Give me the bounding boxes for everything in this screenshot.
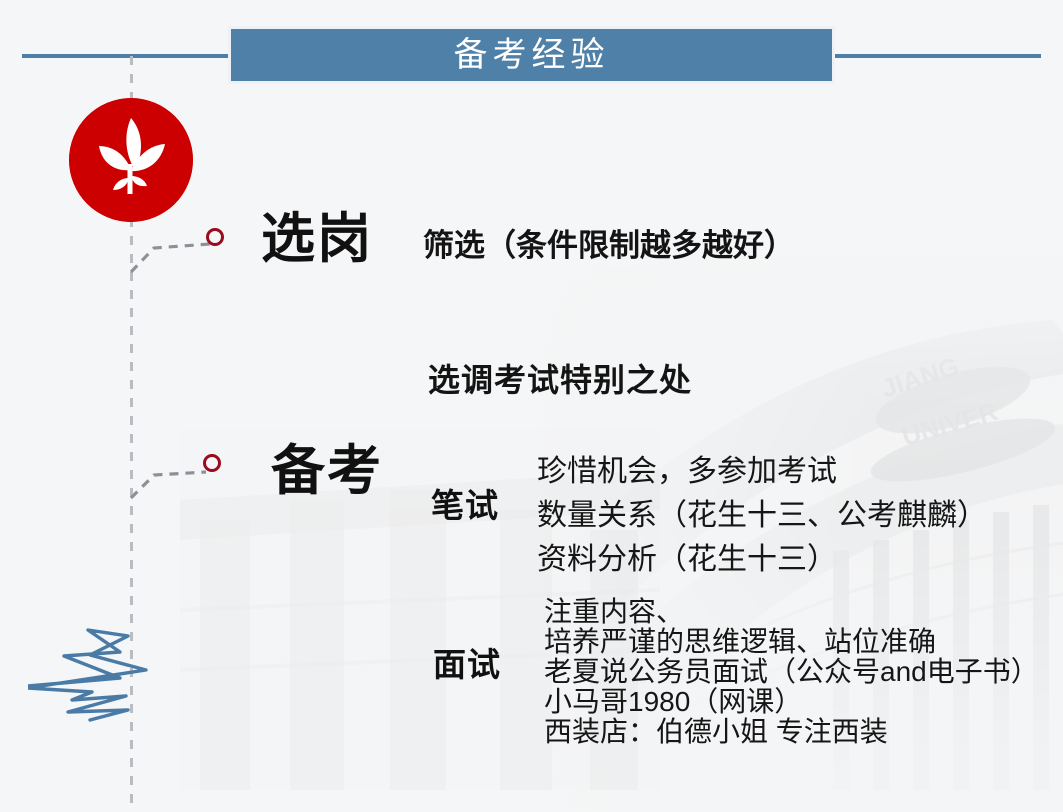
detail-row: 珍惜机会，多参加考试 — [537, 450, 987, 494]
plant-leaf-emblem-icon — [69, 98, 193, 222]
title-banner: 备考经验 — [231, 29, 832, 81]
sublabel-bishi: 笔试 — [431, 489, 499, 522]
timeline-node-dot-1[interactable] — [206, 228, 224, 246]
detail-row: 老夏说公务员面试（公众号and电子书） — [544, 657, 1039, 687]
detail-row: 资料分析（花生十三） — [537, 538, 987, 582]
sublabel-mianshi: 面试 — [433, 648, 501, 681]
detail-row: 西装店：伯德小姐 专注西装 — [544, 717, 1039, 747]
svg-text:JIANG: JIANG — [878, 351, 963, 404]
stage-label-xuangang: 选岗 — [261, 212, 373, 266]
svg-text:UNIVER: UNIVER — [898, 396, 1001, 452]
detail-block-bishi: 珍惜机会，多参加考试 数量关系（花生十三、公考麒麟） 资料分析（花生十三） — [537, 450, 987, 582]
detail-block-mianshi: 注重内容、 培养严谨的思维逻辑、站位准确 老夏说公务员面试（公众号and电子书）… — [544, 597, 1039, 747]
slide-canvas: JIANG UNIVER — [0, 0, 1063, 812]
timeline-node-dot-2[interactable] — [203, 454, 221, 472]
detail-row: 小马哥1980（网课） — [544, 687, 1039, 717]
stage-label-beikao: 备考 — [271, 444, 383, 498]
page-title: 备考经验 — [454, 38, 610, 72]
detail-row: 注重内容、 — [544, 597, 1039, 627]
lead-line-xuangang: 筛选（条件限制越多越好） — [423, 230, 795, 261]
detail-row: 数量关系（花生十三、公考麒麟） — [537, 494, 987, 538]
detail-row: 培养严谨的思维逻辑、站位准确 — [544, 627, 1039, 657]
section-heading: 选调考试特别之处 — [428, 364, 692, 396]
waveform-decoration — [28, 608, 188, 758]
